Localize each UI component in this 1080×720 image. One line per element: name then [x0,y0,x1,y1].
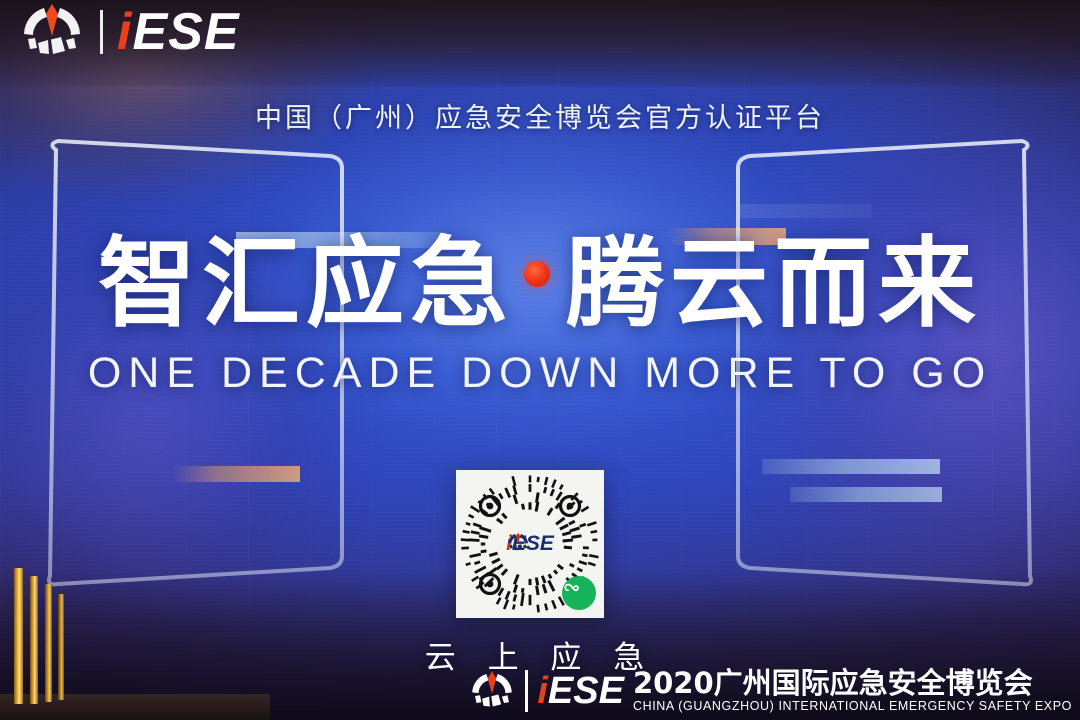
photo-banner-scene: iESE 中国（广州）应急安全博览会官方认证平台 智汇应急腾云而来 ONE DE… [0,0,1080,720]
stanchion-pole-3 [45,584,52,702]
stanchion-pole-1 [14,568,23,704]
expo-title-group: 2020广州国际应急安全博览会 CHINA (GUANGZHOU) INTERN… [633,668,1072,714]
iese-compass-logo-icon [506,532,530,553]
expo-bottom-lockup: iESE 2020广州国际应急安全博览会 CHINA (GUANGZHOU) I… [468,668,1072,714]
headline-separator-dot [524,261,550,287]
header-subtitle: 中国（广州）应急安全博览会官方认证平台 [0,96,1080,135]
iese-compass-logo-icon [18,4,86,60]
top-left-brand-lockup: iESE [18,4,240,60]
expo-divider [525,670,528,712]
iese-wordmark-i: i [117,3,132,61]
qr-code-block: iESE [456,470,604,618]
expo-title-cn: 2020广州国际应急安全博览会 [633,668,1072,699]
accent-bar-soft-upper-right [740,204,872,218]
qr-center-brand: iESE [506,532,554,556]
accent-bar-orange-lower-left [172,466,300,482]
iese-wordmark: iESE [117,6,240,58]
stanchion-pole-4 [58,594,64,700]
iese-wordmark-rest: ESE [132,3,239,61]
iese-compass-logo-icon [468,669,516,713]
expo-iese-wordmark: iESE [537,672,624,710]
stanchion-pole-2 [30,576,38,704]
headline-part-one: 智汇应急 [98,227,514,341]
main-headline: 智汇应急腾云而来 [0,232,1080,336]
accent-bar-blue-lower-right-1 [762,459,940,474]
expo-iese-wordmark-i: i [537,670,548,712]
brand-divider [100,10,103,54]
english-tagline: ONE DECADE DOWN MORE TO GO [0,348,1080,398]
floor-strip [0,694,270,720]
accent-bar-blue-lower-right-2 [790,487,942,502]
expo-title-en: CHINA (GUANGZHOU) INTERNATIONAL EMERGENC… [633,699,1072,714]
wechat-mini-program-badge-icon [562,576,596,610]
headline-part-two: 腾云而来 [566,227,982,341]
expo-iese-wordmark-rest: ESE [548,670,624,712]
wechat-mini-program-qr-code[interactable]: iESE [456,470,604,618]
